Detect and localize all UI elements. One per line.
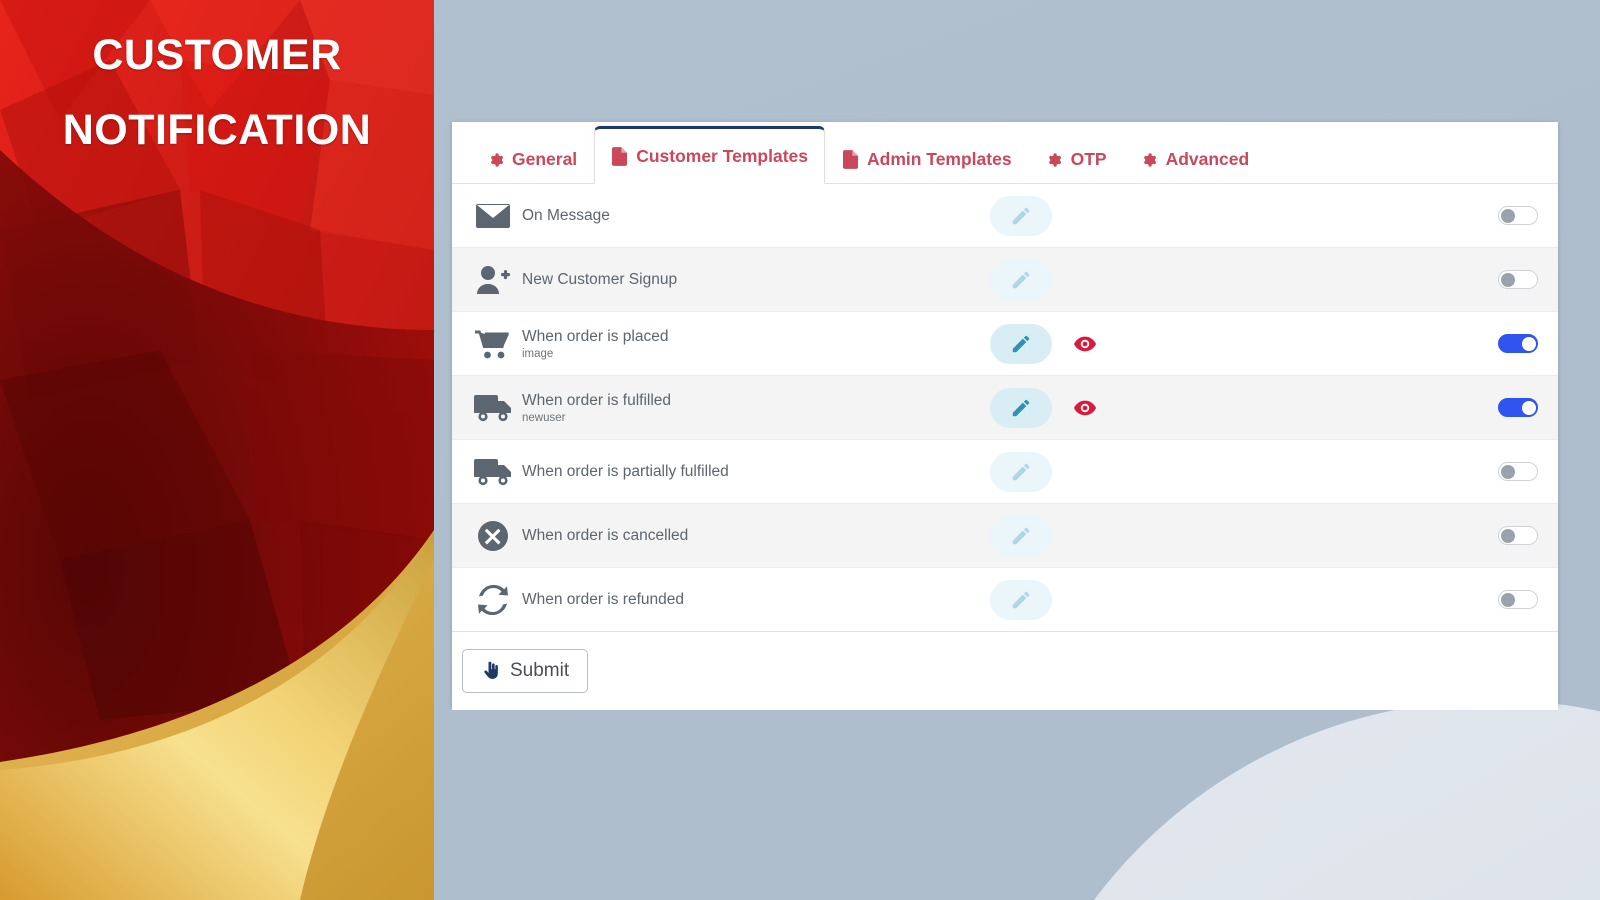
edit-button[interactable] (990, 516, 1052, 556)
row-title: When order is refunded (522, 591, 990, 609)
row-toggle (1498, 526, 1538, 545)
row-labels: When order is cancelled (520, 527, 990, 545)
tab-label: General (512, 149, 577, 170)
gear-icon (487, 150, 504, 169)
table-row: When order is placed image (452, 312, 1558, 376)
row-title: When order is partially fulfilled (522, 463, 990, 481)
tab-label: Customer Templates (636, 146, 808, 167)
pencil-icon (1010, 589, 1032, 611)
row-title: When order is cancelled (522, 527, 990, 545)
row-labels: On Message (520, 207, 990, 225)
edit-button[interactable] (990, 196, 1052, 236)
row-title: On Message (522, 207, 990, 225)
truck-icon (466, 458, 520, 486)
truck-icon (466, 394, 520, 422)
row-actions (990, 324, 1170, 364)
cart-icon (466, 329, 520, 359)
edit-button[interactable] (990, 388, 1052, 428)
gear-icon (1141, 150, 1158, 169)
gold-swoosh (0, 520, 434, 900)
file-icon (611, 147, 628, 166)
row-actions (990, 580, 1170, 620)
pencil-icon (1010, 397, 1032, 419)
row-labels: When order is fulfilled newuser (520, 392, 990, 424)
envelope-icon (466, 203, 520, 229)
submit-button[interactable]: Submit (462, 649, 588, 693)
edit-button[interactable] (990, 452, 1052, 492)
edit-button[interactable] (990, 580, 1052, 620)
tab-advanced[interactable]: Advanced (1124, 135, 1267, 183)
row-toggle (1498, 462, 1538, 481)
table-row: When order is fulfilled newuser (452, 376, 1558, 440)
tab-otp[interactable]: OTP (1029, 135, 1124, 183)
pencil-icon (1010, 205, 1032, 227)
table-row: When order is refunded (452, 568, 1558, 632)
background-circle-decoration (994, 700, 1600, 900)
row-actions (990, 196, 1170, 236)
user-add-icon (466, 265, 520, 295)
row-labels: New Customer Signup (520, 271, 990, 289)
enable-toggle[interactable] (1498, 462, 1538, 481)
card-footer: Submit (452, 632, 1558, 710)
row-actions (990, 388, 1170, 428)
banner-title-line-2: NOTIFICATION (0, 93, 434, 168)
decorative-banner: CUSTOMER NOTIFICATION (0, 0, 434, 900)
gear-icon (1046, 150, 1063, 169)
preview-button[interactable] (1074, 336, 1096, 352)
submit-label: Submit (510, 660, 569, 682)
enable-toggle[interactable] (1498, 206, 1538, 225)
tab-label: Advanced (1166, 149, 1250, 170)
row-title: New Customer Signup (522, 271, 990, 289)
pointing-hand-icon (481, 661, 501, 681)
row-title: When order is fulfilled (522, 392, 990, 410)
tab-general[interactable]: General (470, 135, 594, 183)
table-row: When order is partially fulfilled (452, 440, 1558, 504)
notification-list: On Message (452, 184, 1558, 632)
tab-customer-templates[interactable]: Customer Templates (594, 126, 825, 184)
row-actions (990, 516, 1170, 556)
pencil-icon (1010, 269, 1032, 291)
row-toggle (1498, 270, 1538, 289)
row-toggle (1498, 398, 1538, 417)
row-actions (990, 260, 1170, 300)
tab-bar: General Customer Templates Admin Templat… (452, 122, 1558, 184)
cancel-circle-icon (466, 521, 520, 551)
enable-toggle[interactable] (1498, 526, 1538, 545)
row-subtitle: newuser (522, 412, 990, 424)
row-toggle (1498, 590, 1538, 609)
enable-toggle[interactable] (1498, 590, 1538, 609)
edit-button[interactable] (990, 260, 1052, 300)
row-labels: When order is refunded (520, 591, 990, 609)
tab-label: Admin Templates (867, 149, 1012, 170)
file-icon (842, 150, 859, 169)
table-row: When order is cancelled (452, 504, 1558, 568)
tab-admin-templates[interactable]: Admin Templates (825, 135, 1029, 183)
banner-title: CUSTOMER NOTIFICATION (0, 18, 434, 169)
tab-label: OTP (1071, 149, 1107, 170)
row-actions (990, 452, 1170, 492)
table-row: New Customer Signup (452, 248, 1558, 312)
enable-toggle[interactable] (1498, 270, 1538, 289)
eye-icon (1074, 400, 1096, 416)
table-row: On Message (452, 184, 1558, 248)
refund-arrows-icon (466, 585, 520, 615)
row-title: When order is placed (522, 328, 990, 346)
row-subtitle: image (522, 348, 990, 360)
notification-settings-card: General Customer Templates Admin Templat… (452, 122, 1558, 706)
row-labels: When order is partially fulfilled (520, 463, 990, 481)
enable-toggle[interactable] (1498, 334, 1538, 353)
row-toggle (1498, 206, 1538, 225)
row-toggle (1498, 334, 1538, 353)
enable-toggle[interactable] (1498, 398, 1538, 417)
edit-button[interactable] (990, 324, 1052, 364)
pencil-icon (1010, 525, 1032, 547)
eye-icon (1074, 336, 1096, 352)
pencil-icon (1010, 461, 1032, 483)
row-labels: When order is placed image (520, 328, 990, 360)
banner-title-line-1: CUSTOMER (0, 18, 434, 93)
preview-button[interactable] (1074, 400, 1096, 416)
pencil-icon (1010, 333, 1032, 355)
